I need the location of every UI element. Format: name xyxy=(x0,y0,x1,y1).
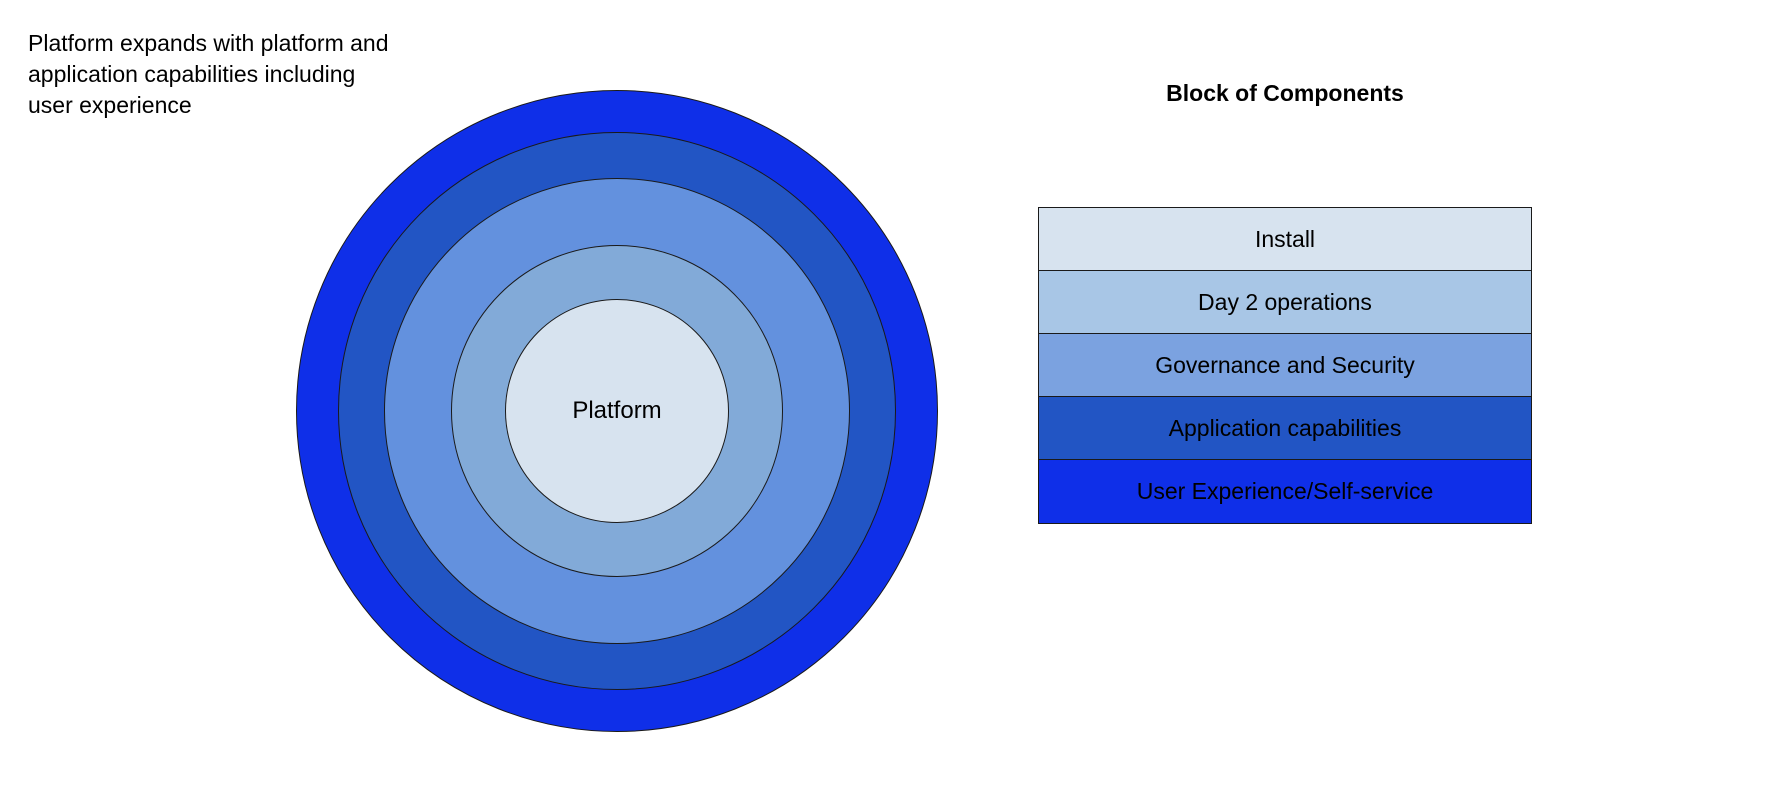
legend-row-install[interactable]: Install xyxy=(1039,208,1531,271)
legend-row-label: Day 2 operations xyxy=(1198,289,1372,316)
legend-row-day-2-operations[interactable]: Day 2 operations xyxy=(1039,271,1531,334)
legend-title: Block of Components xyxy=(1038,80,1532,107)
legend-row-governance-and-security[interactable]: Governance and Security xyxy=(1039,334,1531,397)
concentric-ring-diagram: Platform xyxy=(0,0,1000,804)
legend-row-application-capabilities[interactable]: Application capabilities xyxy=(1039,397,1531,460)
legend-row-user-experience-self-service[interactable]: User Experience/Self-service xyxy=(1039,460,1531,523)
legend-row-label: User Experience/Self-service xyxy=(1137,478,1434,505)
legend-panel: Block of Components Install Day 2 operat… xyxy=(1038,80,1532,524)
legend-row-label: Application capabilities xyxy=(1169,415,1402,442)
legend-rows: Install Day 2 operations Governance and … xyxy=(1038,207,1532,524)
legend-row-label: Install xyxy=(1255,226,1315,253)
ring-core-label: Platform xyxy=(572,397,661,425)
legend-row-label: Governance and Security xyxy=(1155,352,1415,379)
